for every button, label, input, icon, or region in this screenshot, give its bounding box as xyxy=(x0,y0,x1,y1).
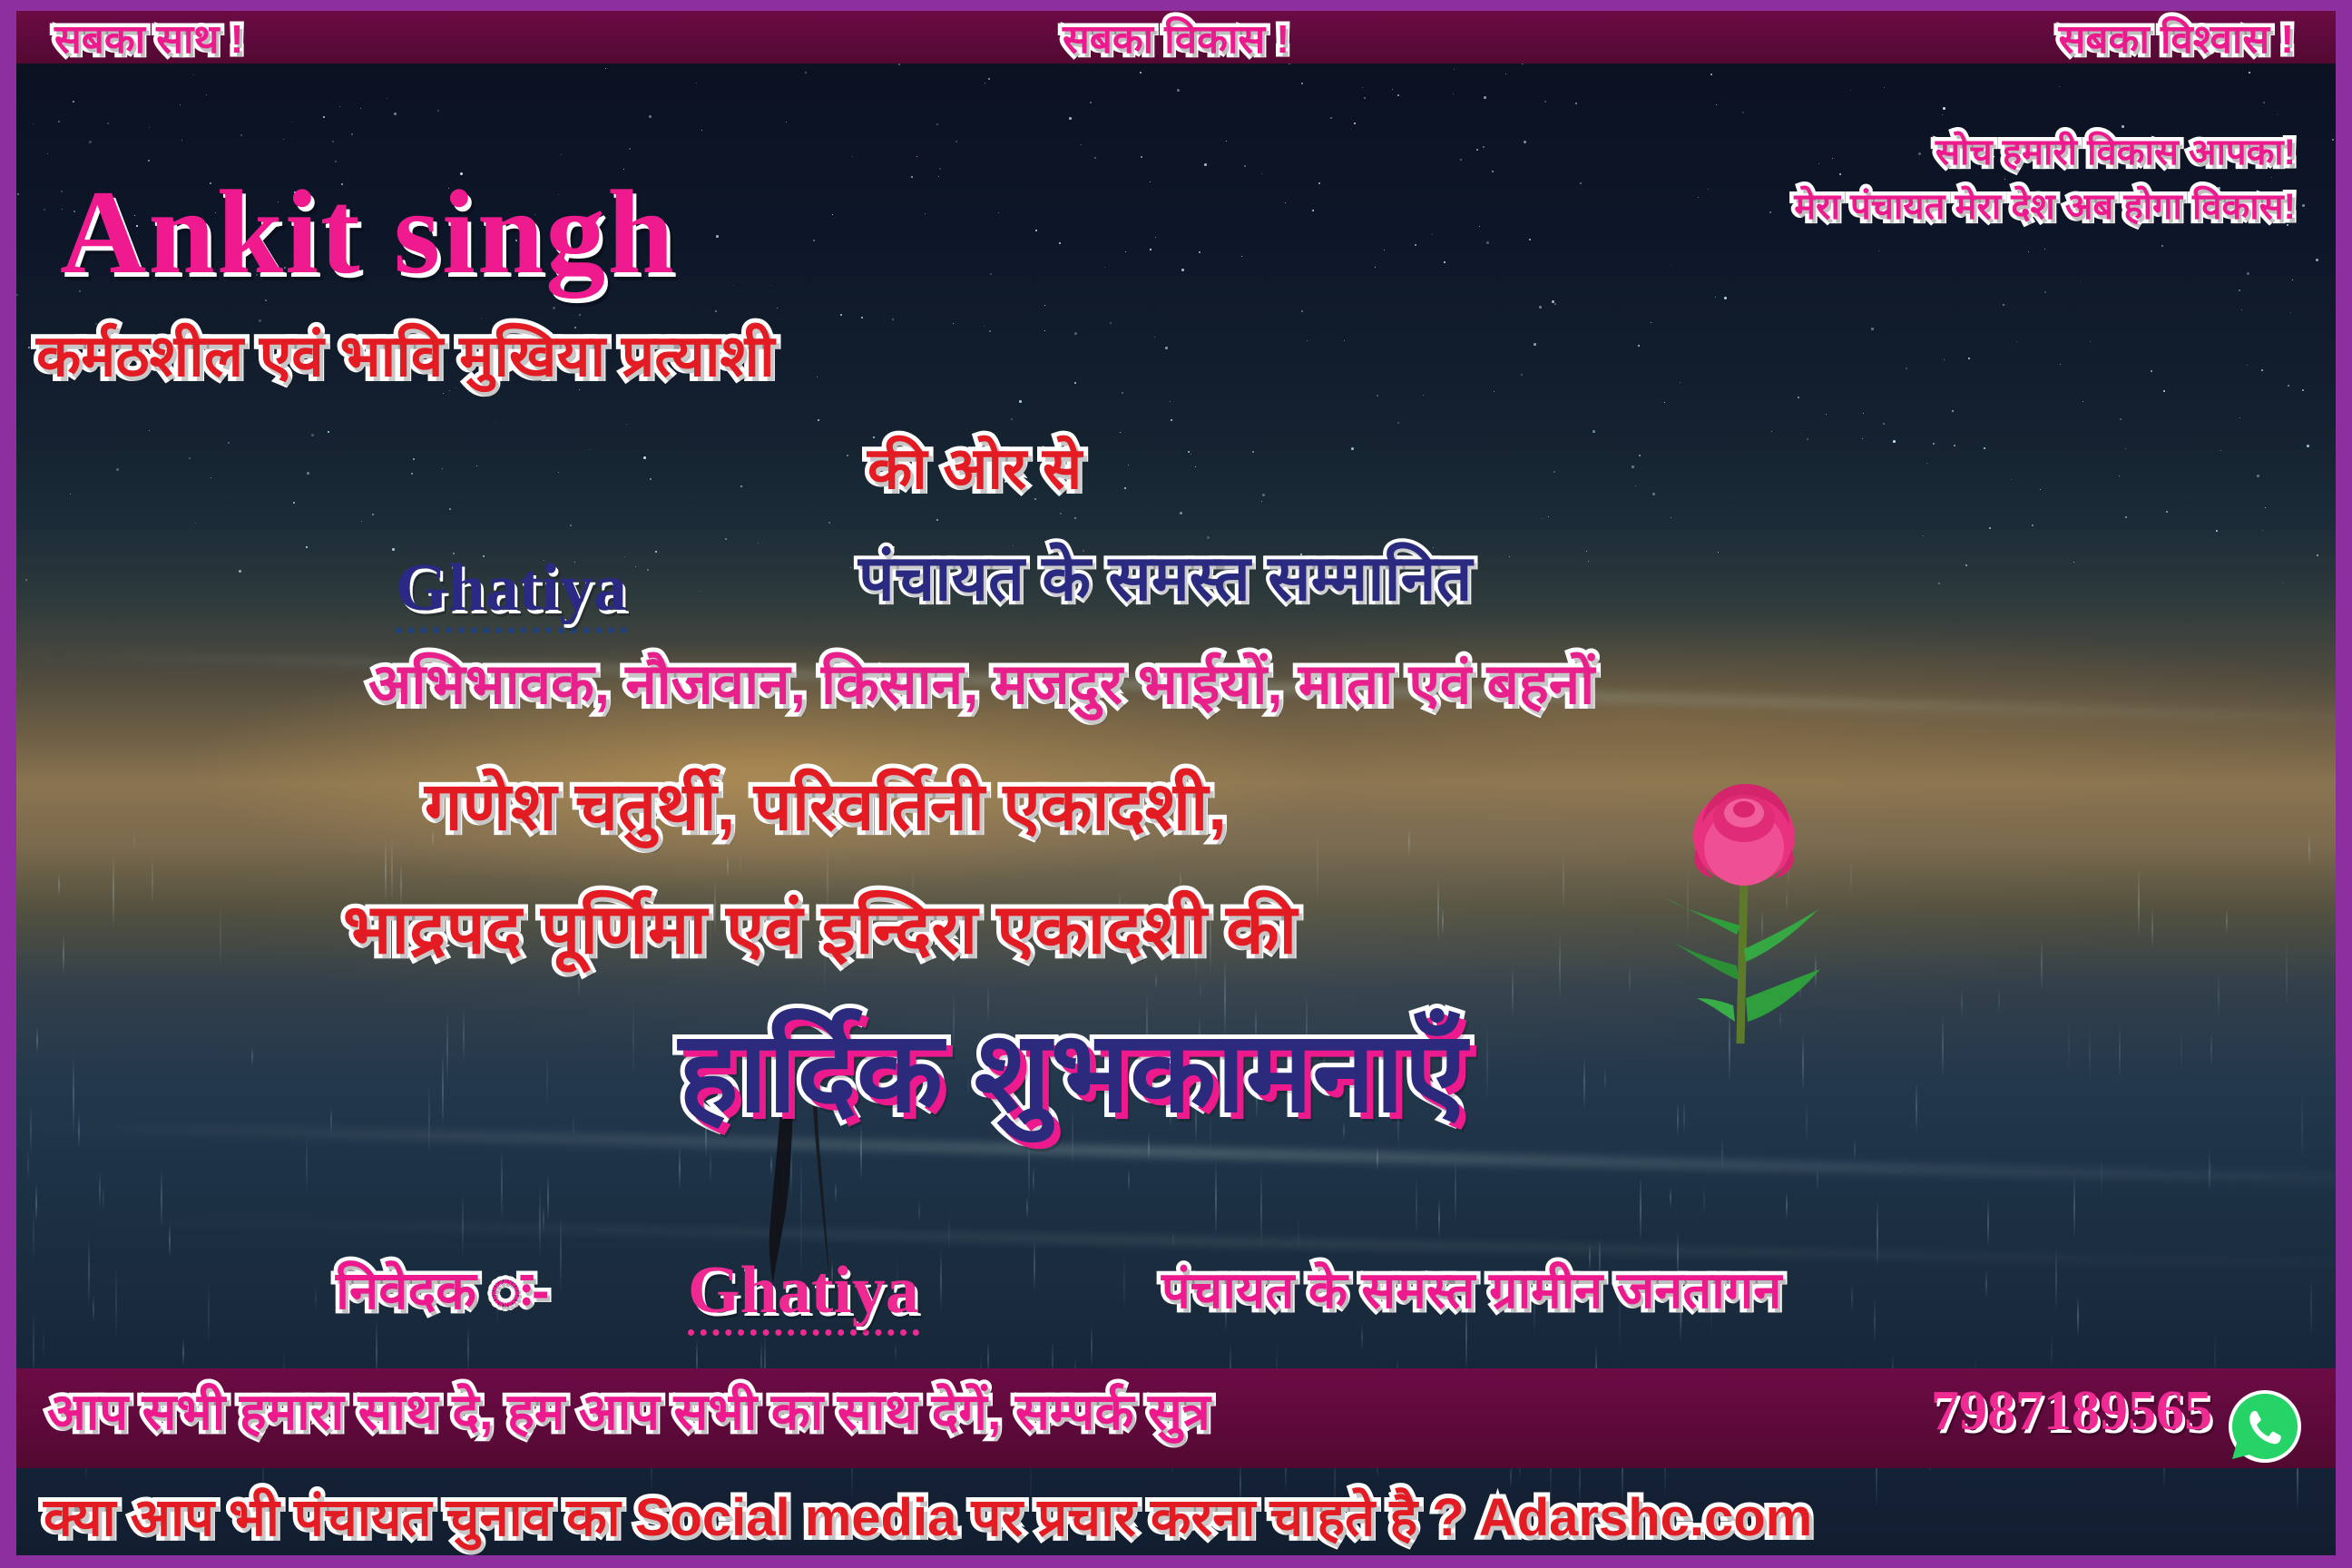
background-stars xyxy=(16,11,2336,592)
header-slogan-2: सबका विकास ! xyxy=(1063,20,1289,60)
candidate-name: Ankit singh xyxy=(60,172,676,292)
candidate-designation: कर्मठशील एवं भावि मुखिया प्रत्याशी xyxy=(36,327,775,385)
header-slogan-3: सबका विश्वास ! xyxy=(2059,20,2294,60)
body-line-3: पंचायत के समस्त सम्मानित xyxy=(858,546,1472,610)
body-line-5-festivals: गणेश चतुर्थी, परिवर्तिनी एकादशी, xyxy=(425,773,1227,840)
whatsapp-icon[interactable] xyxy=(2227,1388,2303,1465)
candidate-from-label: की ओर से xyxy=(867,439,1082,497)
body-line-4: अभिभावक, नौजवान, किसान, मजदुर भाईयों, मा… xyxy=(368,657,1594,713)
body-line-6-festivals: भाद्रपद पूर्णिमा एवं इन्दिरा एकादशी की xyxy=(343,896,1297,965)
header-slogan-1: सबका साथ ! xyxy=(54,20,243,60)
poster-canvas: सबका साथ ! सबका विकास ! सबका विश्वास ! स… xyxy=(16,11,2336,1555)
footer-line-2: क्या आप भी पंचायत चुनाव का Social media … xyxy=(44,1492,1812,1544)
rose-flower-icon xyxy=(1646,771,1846,1071)
top-right-slogan-line1: सोच हमारी विकास आपका! xyxy=(1935,134,2296,171)
sender-rest-text: पंचायत के समस्त ग्रामीन जनतागन xyxy=(1161,1265,1781,1316)
big-wish-text: हार्दिक शुभकामनाएँ xyxy=(679,1016,1466,1129)
sender-label: निवेदक ः- xyxy=(336,1265,549,1318)
footer-phone-number[interactable]: 7987189565 xyxy=(1931,1383,2212,1439)
village-name-primary: Ghatiya xyxy=(396,550,627,633)
top-right-slogan-line2: मेरा पंचायत मेरा देश अब होगा विकास! xyxy=(1794,189,2296,225)
footer-line-1: आप सभी हमारा साथ दे, हम आप सभी का साथ दे… xyxy=(47,1387,1210,1437)
village-name-sender: Ghatiya xyxy=(688,1252,919,1336)
poster-root: सबका साथ ! सबका विकास ! सबका विश्वास ! स… xyxy=(0,0,2352,1568)
